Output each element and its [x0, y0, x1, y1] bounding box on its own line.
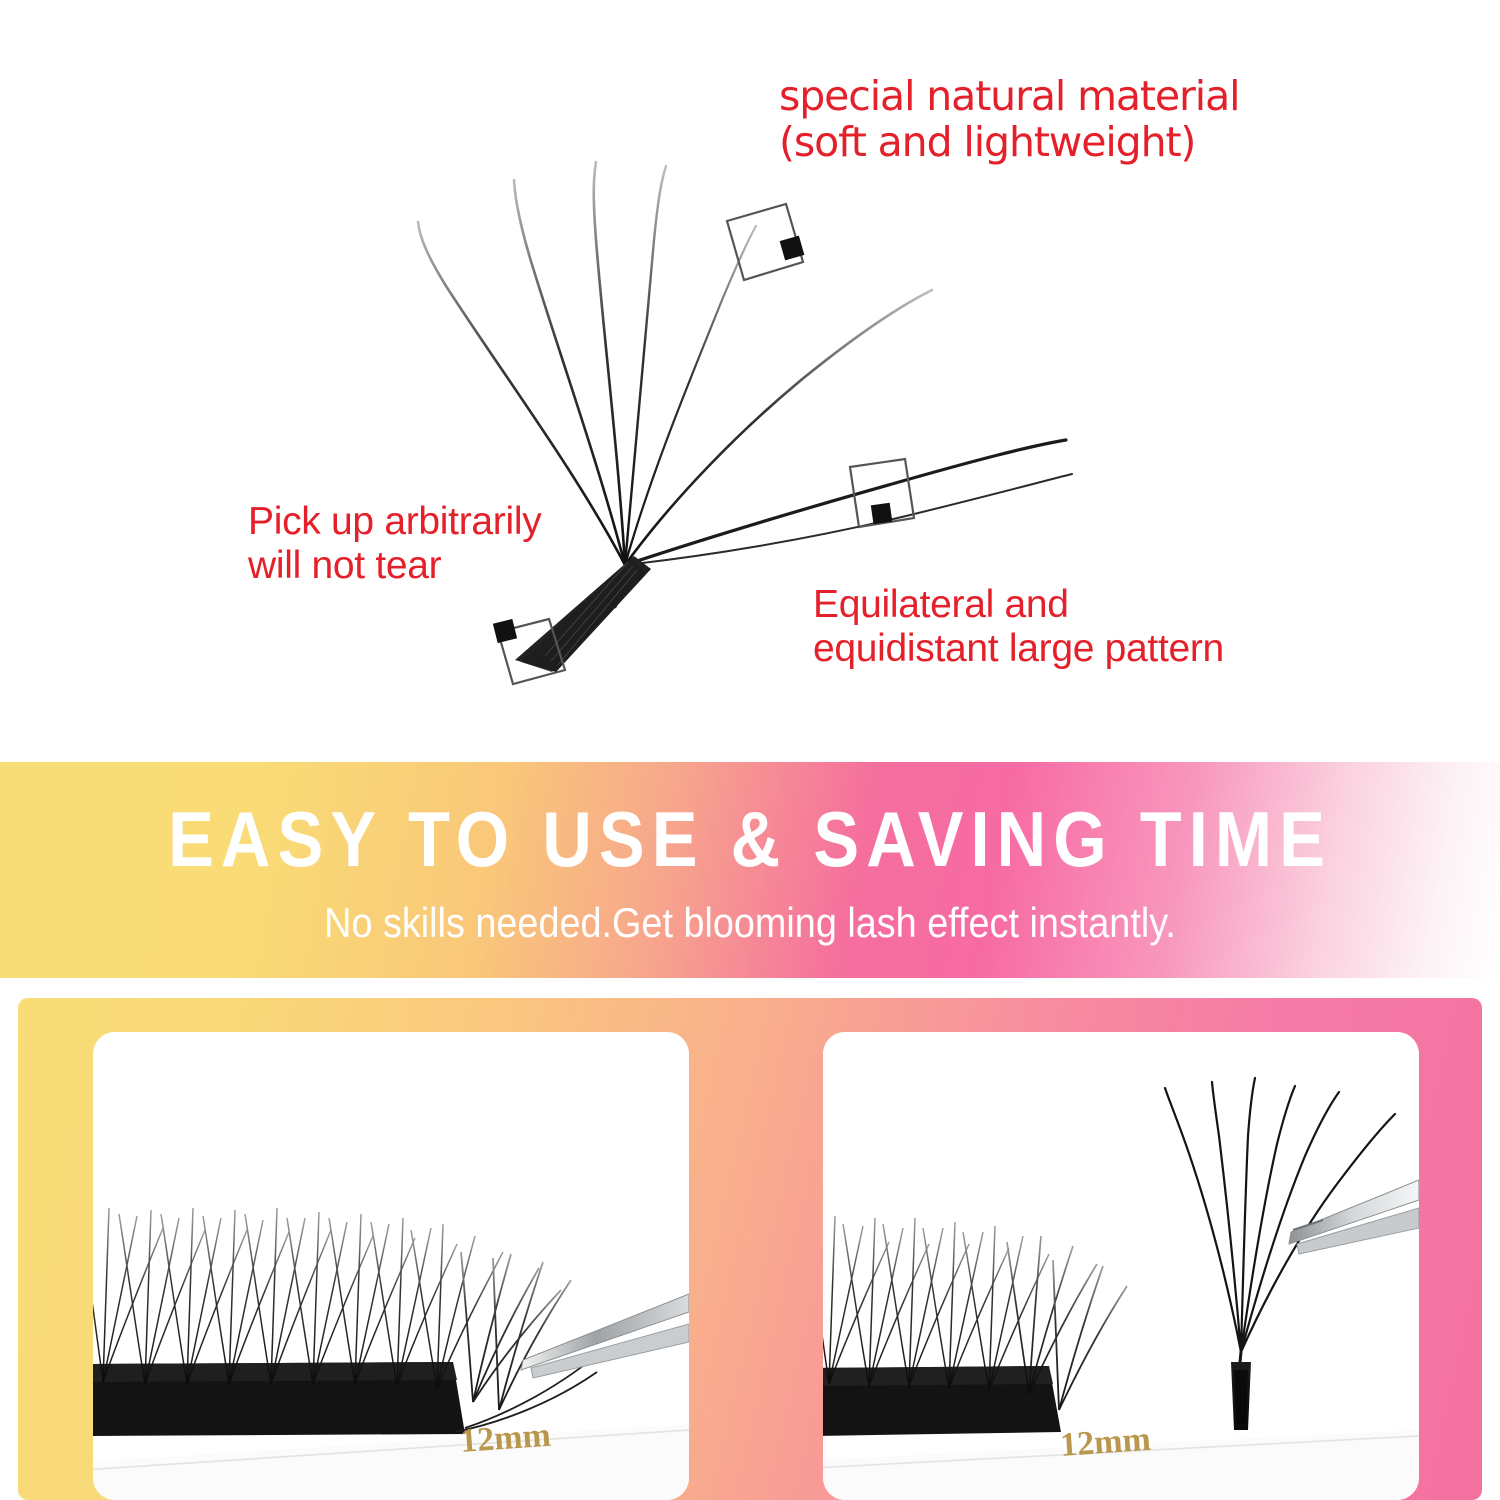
- tray-size-label-left: 12mm: [459, 1417, 552, 1460]
- lash-strand-8: [625, 474, 1072, 565]
- callout-equilateral-equidistant: Equilateral and equidistant large patter…: [813, 583, 1224, 670]
- lash-strand-5: [625, 226, 756, 565]
- lash-strand-7: [625, 440, 1066, 565]
- lash-strand-4: [625, 166, 666, 565]
- marker-dot-right: [871, 503, 892, 524]
- callout-pick-up-arbitrarily: Pick up arbitrarily will not tear: [248, 500, 541, 587]
- hero-section: special natural material (soft and light…: [0, 0, 1500, 762]
- banner-title: EASY TO USE & SAVING TIME: [90, 800, 1410, 878]
- feature-banner: EASY TO USE & SAVING TIME No skills need…: [0, 762, 1500, 978]
- banner-subtitle: No skills needed.Get blooming lash effec…: [75, 902, 1425, 944]
- callout-special-natural-material: special natural material (soft and light…: [779, 74, 1239, 166]
- eyelash-fan-illustration: [0, 0, 1500, 762]
- square-marker-upper: [727, 204, 804, 280]
- marker-dot-base: [493, 619, 517, 643]
- lash-strand-3: [594, 162, 625, 565]
- photo-card-fan-lifted-by-tweezers: 12mm 12mm: [823, 1032, 1419, 1500]
- photo-card-lash-tray-with-tweezers: 12mm 12mm: [93, 1032, 689, 1500]
- tray-size-label-right: 12mm: [1059, 1421, 1152, 1464]
- svg-text:12mm: 12mm: [1059, 1421, 1152, 1464]
- svg-text:12mm: 12mm: [459, 1417, 552, 1460]
- lifted-fan-base: [1231, 1362, 1251, 1430]
